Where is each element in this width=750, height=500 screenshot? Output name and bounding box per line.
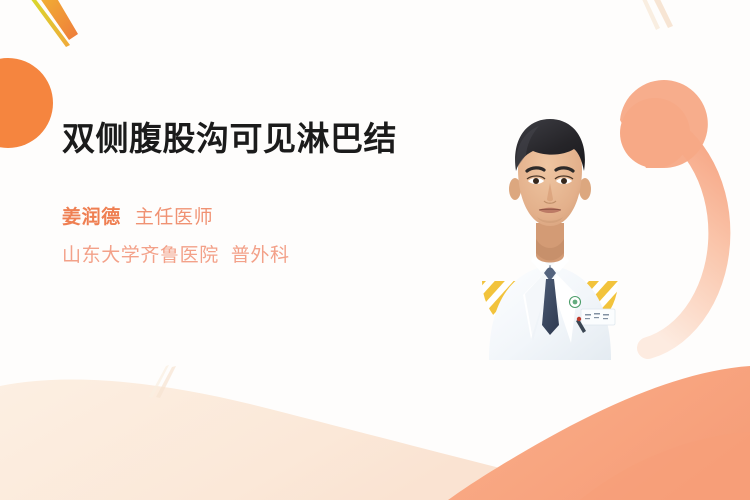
poster-canvas: 双侧腹股沟可见淋巴结 姜润德主任医师 山东大学齐鲁医院普外科 (0, 0, 750, 500)
doctor-coat (489, 253, 615, 360)
doctor-name: 姜润德 (62, 207, 121, 228)
page-title: 双侧腹股沟可见淋巴结 (62, 118, 422, 160)
byline: 姜润德主任医师 山东大学齐鲁医院普外科 (62, 204, 422, 270)
hospital-name: 山东大学齐鲁医院 (62, 245, 219, 266)
text-content: 双侧腹股沟可见淋巴结 姜润德主任医师 山东大学齐鲁医院普外科 (62, 118, 422, 270)
byline-row-hospital: 山东大学齐鲁医院普外科 (62, 242, 422, 271)
eye-right (561, 178, 567, 184)
department-name: 普外科 (231, 245, 290, 266)
eye-left (533, 178, 539, 184)
doctor-portrait (455, 95, 645, 360)
doctor-title: 主任医师 (135, 207, 213, 228)
doctor-portrait-graphic (455, 95, 645, 360)
byline-row-doctor: 姜润德主任医师 (62, 204, 422, 233)
